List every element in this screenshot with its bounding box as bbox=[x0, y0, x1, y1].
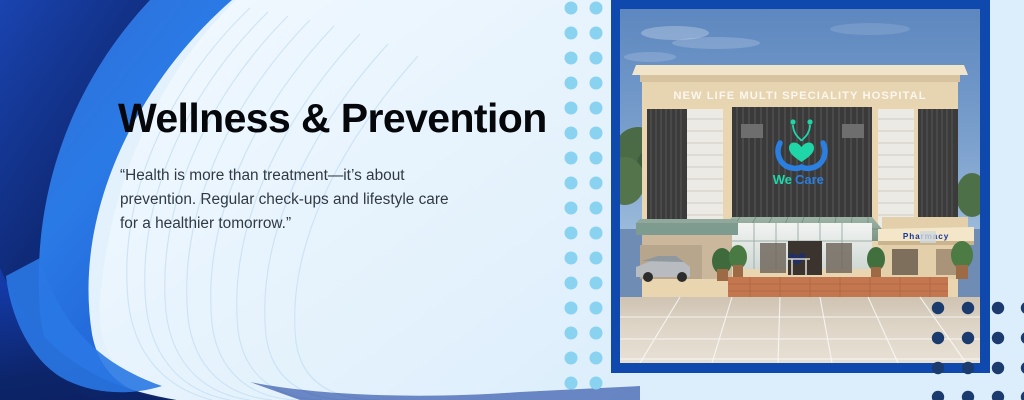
quote-text: “Health is more than treatment—it’s abou… bbox=[120, 164, 465, 236]
text-block: Wellness & Prevention “Health is more th… bbox=[118, 96, 558, 236]
hospital-illustration: NEW LIFE MULTI SPECIALITY HOSPITAL bbox=[620, 9, 980, 363]
promo-banner: Wellness & Prevention “Health is more th… bbox=[0, 0, 1024, 400]
logo-text-we: We bbox=[773, 172, 792, 187]
hospital-photo: NEW LIFE MULTI SPECIALITY HOSPITAL bbox=[620, 9, 980, 363]
light-dot-pattern bbox=[556, 0, 612, 400]
dark-dot-pattern bbox=[928, 298, 1024, 400]
hospital-sign-text: NEW LIFE MULTI SPECIALITY HOSPITAL bbox=[673, 90, 926, 102]
light-dot-svg bbox=[556, 0, 612, 400]
page-title: Wellness & Prevention bbox=[118, 96, 558, 142]
logo-text-care: Care bbox=[795, 172, 824, 187]
dark-dot-svg bbox=[928, 298, 1024, 400]
